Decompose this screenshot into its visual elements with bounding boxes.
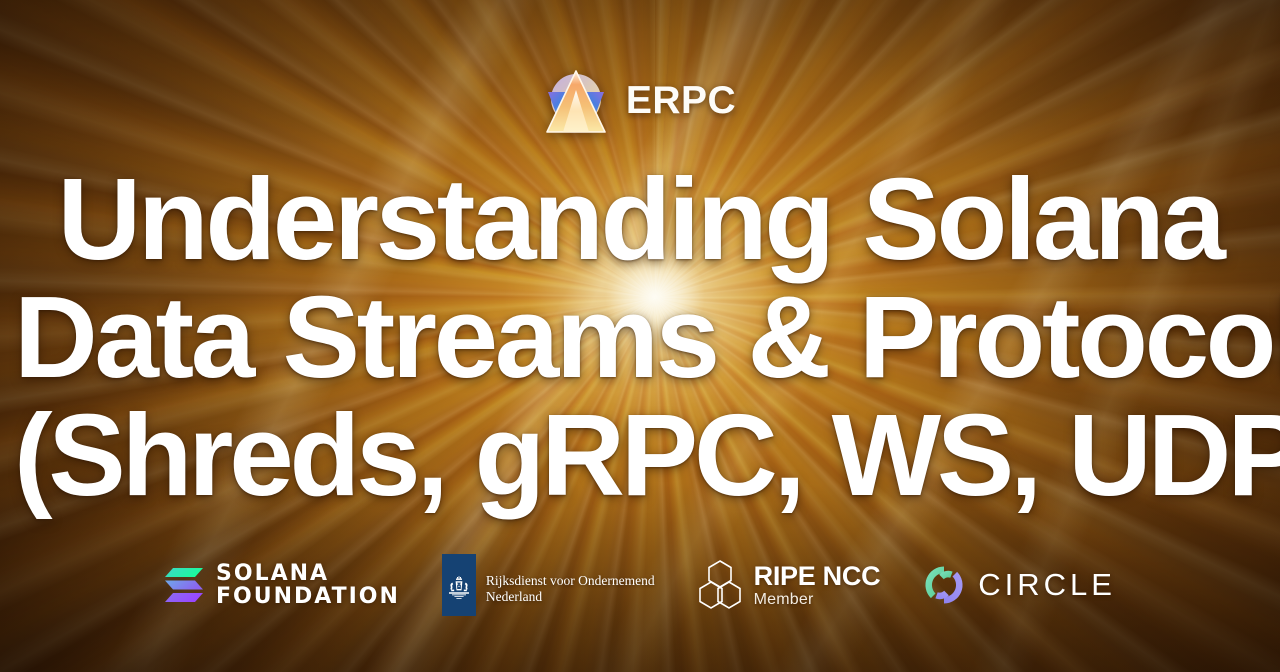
brand-name: ERPC <box>626 79 736 123</box>
solana-line-2: FOUNDATION <box>216 585 400 608</box>
ripe-subtitle: Member <box>754 590 881 609</box>
partner-circle: CIRCLE <box>922 563 1116 607</box>
netherlands-coat-of-arms-icon <box>446 576 472 602</box>
partner-logo-strip: SOLANA FOUNDATION <box>0 554 1280 616</box>
ripe-title: RIPE NCC <box>754 562 881 590</box>
circle-ring-icon <box>922 563 966 607</box>
poster-canvas: ERPC Understanding Solana Data Streams &… <box>0 0 1280 672</box>
netherlands-line-1: Rijksdienst voor Ondernemend <box>486 573 655 589</box>
netherlands-blue-panel <box>442 554 476 616</box>
partner-netherlands-rvo: Rijksdienst voor Ondernemend Nederland <box>442 554 655 616</box>
circle-wordmark: CIRCLE <box>978 567 1116 603</box>
title-line-1: Understanding Solana <box>14 160 1266 278</box>
netherlands-line-2: Nederland <box>486 589 655 605</box>
solana-bars-icon <box>164 566 204 604</box>
erpc-triangle-logo-icon <box>544 66 608 136</box>
ripe-hexagons-icon <box>697 559 743 611</box>
netherlands-wordmark: Rijksdienst voor Ondernemend Nederland <box>476 554 655 616</box>
title-line-3: (Shreds, gRPC, WS, UDP) <box>14 396 1266 514</box>
solana-line-1: SOLANA <box>216 562 400 585</box>
title-line-2: Data Streams & Protocols <box>14 278 1266 396</box>
partner-ripe-ncc: RIPE NCC Member <box>697 559 881 611</box>
solana-wordmark: SOLANA FOUNDATION <box>216 562 400 608</box>
partner-solana-foundation: SOLANA FOUNDATION <box>164 562 400 608</box>
brand-lockup: ERPC <box>0 66 1280 136</box>
page-title: Understanding Solana Data Streams & Prot… <box>0 160 1280 514</box>
